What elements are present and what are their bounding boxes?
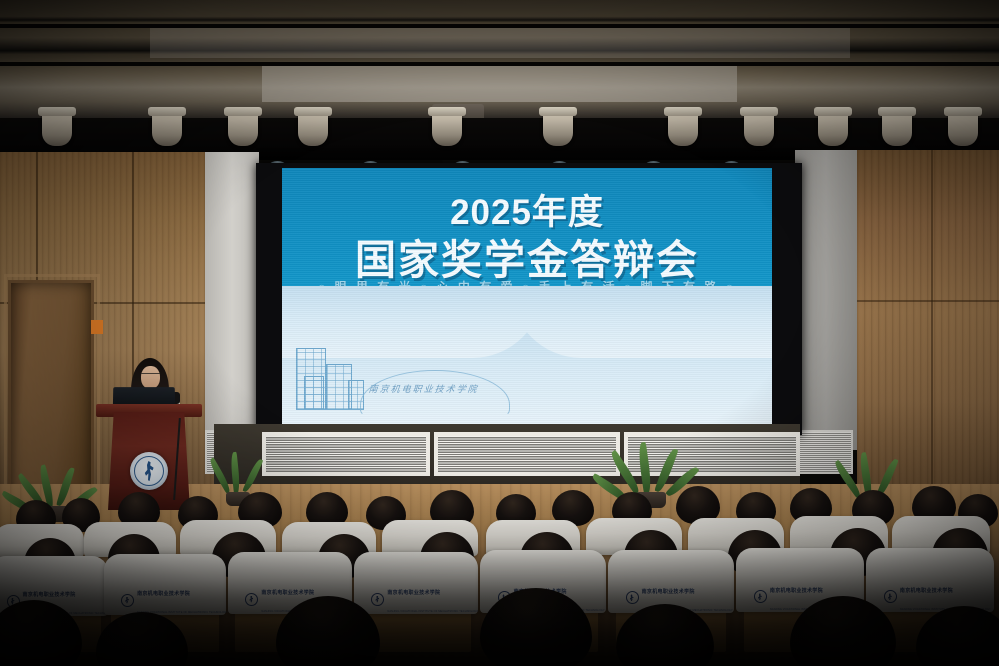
speaker-glasses <box>141 373 160 378</box>
spotlight-icon <box>298 110 328 146</box>
school-emblem-icon <box>130 452 168 490</box>
chair-logo: 南京机电职业技术学院 NANJING VOCATIONAL INSTITUTE … <box>626 591 717 605</box>
spotlight-icon <box>228 110 258 146</box>
chair-logo: 南京机电职业技术学院 NANJING VOCATIONAL INSTITUTE … <box>121 593 209 607</box>
wall-panel-right <box>795 150 857 450</box>
air-vent-icon <box>262 432 430 476</box>
spotlight-icon <box>42 110 72 146</box>
presentation-slide: 2025年度 国家奖学金答辩会 ○ 眼 里 有 光 ○ 心 中 有 爱 ○ 手 … <box>282 168 772 426</box>
chair-logo-text: 南京机电职业技术学院 <box>642 589 695 595</box>
auditorium-photo: 2025年度 国家奖学金答辩会 ○ 眼 里 有 光 ○ 心 中 有 爱 ○ 手 … <box>0 0 999 666</box>
spotlight-icon <box>432 110 462 146</box>
spotlight-icon <box>882 110 912 146</box>
spotlight-icon <box>152 110 182 146</box>
chair-logo-text: 南京机电职业技术学院 <box>387 590 440 596</box>
spotlight-icon <box>818 110 848 146</box>
slide-watermark: 南京机电职业技术学院 <box>367 382 500 410</box>
chair-logo: 南京机电职业技术学院 NANJING VOCATIONAL INSTITUTE … <box>371 592 460 606</box>
school-emblem-icon <box>626 591 639 604</box>
school-emblem-icon <box>121 594 134 607</box>
chair-logo-text: 南京机电职业技术学院 <box>770 588 823 594</box>
spotlight-icon <box>543 110 573 146</box>
wall-sign <box>91 320 103 334</box>
building-illustration <box>304 376 324 410</box>
chair-logo-text: 南京机电职业技术学院 <box>23 592 76 598</box>
chair-logo-text: 南京机电职业技术学院 <box>900 588 953 594</box>
school-emblem-icon <box>754 590 767 603</box>
school-emblem-icon <box>884 590 897 603</box>
chair-logo-text: 南京机电职业技术学院 <box>137 591 190 597</box>
school-emblem-icon <box>245 593 258 606</box>
slide-lower-band: 南京机电职业技术学院 <box>282 320 772 426</box>
slide-title-line2: 国家奖学金答辩会 <box>282 226 772 286</box>
chair-logo: 南京机电职业技术学院 NANJING VOCATIONAL INSTITUTE … <box>884 590 976 605</box>
ceiling <box>0 0 999 118</box>
air-vent-icon <box>434 432 620 476</box>
chair-logo-subtext: NANJING VOCATIONAL INSTITUTE OF MECHATRO… <box>387 610 478 613</box>
school-emblem-icon <box>371 593 384 606</box>
spotlight-icon <box>744 110 774 146</box>
wall-panel-left <box>205 152 259 452</box>
chair-logo-text: 南京机电职业技术学院 <box>261 590 314 596</box>
spotlight-icon <box>668 110 698 146</box>
spotlight-icon <box>948 110 978 146</box>
